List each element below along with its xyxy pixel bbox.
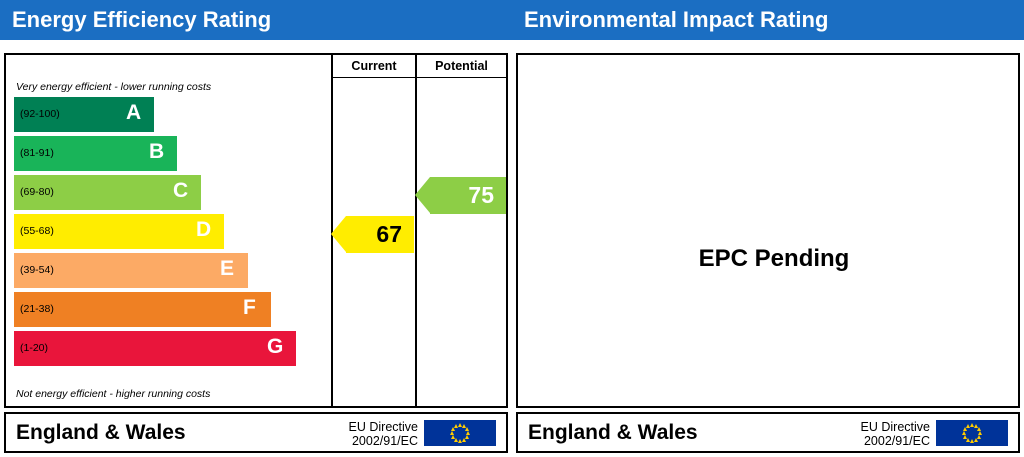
- band-row-c: (69-80) C: [14, 175, 326, 210]
- environmental-impact-chart: EPC Pending: [516, 53, 1020, 408]
- eu-star-icon: [966, 424, 970, 428]
- band-c-range: (69-80): [20, 186, 54, 198]
- eu-flag-icon-right: [936, 420, 1008, 446]
- rating-bands: (92-100) A (81-91) B (69-80) C (55-68) D: [14, 97, 326, 370]
- footer-region-left: England & Wales: [16, 421, 186, 445]
- band-row-f: (21-38) F: [14, 292, 326, 327]
- current-rating-value: 67: [376, 221, 402, 248]
- column-header-potential: Potential: [415, 55, 506, 77]
- footer-directive-line2-left: 2002/91/EC: [349, 435, 418, 449]
- band-a-letter: A: [126, 101, 141, 125]
- footer-directive-line1-left: EU Directive: [349, 421, 418, 435]
- current-marker-arrow-icon: [331, 216, 346, 252]
- band-d-range: (55-68): [20, 225, 54, 237]
- band-g-letter: G: [267, 335, 283, 359]
- eu-star-icon: [962, 431, 966, 435]
- column-header-divider: [331, 77, 506, 78]
- potential-rating-value: 75: [468, 182, 494, 209]
- environmental-footer: England & Wales EU Directive 2002/91/EC: [516, 412, 1020, 453]
- energy-efficiency-chart: Current Potential Very energy efficient …: [4, 53, 508, 408]
- band-g: [14, 331, 296, 366]
- column-header-current: Current: [331, 55, 415, 77]
- footer-directive-right: EU Directive 2002/91/EC: [861, 421, 930, 448]
- page-title: Energy Efficiency Rating: [12, 7, 271, 33]
- band-c-letter: C: [173, 179, 188, 203]
- band-row-d: (55-68) D: [14, 214, 326, 249]
- environmental-impact-header: Environmental Impact Rating: [512, 0, 1024, 40]
- band-e-range: (39-54): [20, 264, 54, 276]
- epc-pending-text: EPC Pending: [518, 245, 1024, 273]
- band-g-range: (1-20): [20, 342, 48, 354]
- footer-directive-line2-right: 2002/91/EC: [861, 435, 930, 449]
- environmental-impact-panel: Environmental Impact Rating EPC Pending …: [512, 0, 1024, 457]
- band-e-letter: E: [220, 257, 234, 281]
- page-title-right: Environmental Impact Rating: [524, 7, 828, 33]
- energy-footer: England & Wales EU Directive 2002/91/EC: [4, 412, 508, 453]
- eu-star-icon: [451, 435, 455, 439]
- footer-region-right: England & Wales: [528, 421, 698, 445]
- eu-star-icon: [454, 424, 458, 428]
- note-very-efficient: Very energy efficient - lower running co…: [16, 81, 211, 93]
- current-rating-marker: 67: [346, 216, 414, 253]
- band-row-e: (39-54) E: [14, 253, 326, 288]
- band-b-letter: B: [149, 140, 164, 164]
- eu-star-icon: [450, 431, 454, 435]
- energy-efficiency-header: Energy Efficiency Rating: [0, 0, 512, 40]
- band-b-range: (81-91): [20, 147, 54, 159]
- band-row-a: (92-100) A: [14, 97, 326, 132]
- eu-star-icon: [970, 439, 974, 443]
- column-divider-2: [415, 55, 417, 406]
- potential-marker-arrow-icon: [415, 177, 430, 213]
- eu-star-icon: [458, 439, 462, 443]
- eu-star-icon: [974, 438, 978, 442]
- band-row-b: (81-91) B: [14, 136, 326, 171]
- footer-directive-left: EU Directive 2002/91/EC: [349, 421, 418, 448]
- potential-rating-marker: 75: [430, 177, 506, 214]
- band-row-g: (1-20) G: [14, 331, 326, 366]
- band-f-letter: F: [243, 296, 256, 320]
- eu-star-icon: [462, 438, 466, 442]
- eu-star-icon: [963, 435, 967, 439]
- footer-directive-line1-right: EU Directive: [861, 421, 930, 435]
- energy-efficiency-panel: Energy Efficiency Rating Current Potenti…: [0, 0, 512, 457]
- band-a-range: (92-100): [20, 108, 60, 120]
- band-f-range: (21-38): [20, 303, 54, 315]
- eu-flag-icon-left: [424, 420, 496, 446]
- note-not-efficient: Not energy efficient - higher running co…: [16, 388, 210, 400]
- band-d-letter: D: [196, 218, 211, 242]
